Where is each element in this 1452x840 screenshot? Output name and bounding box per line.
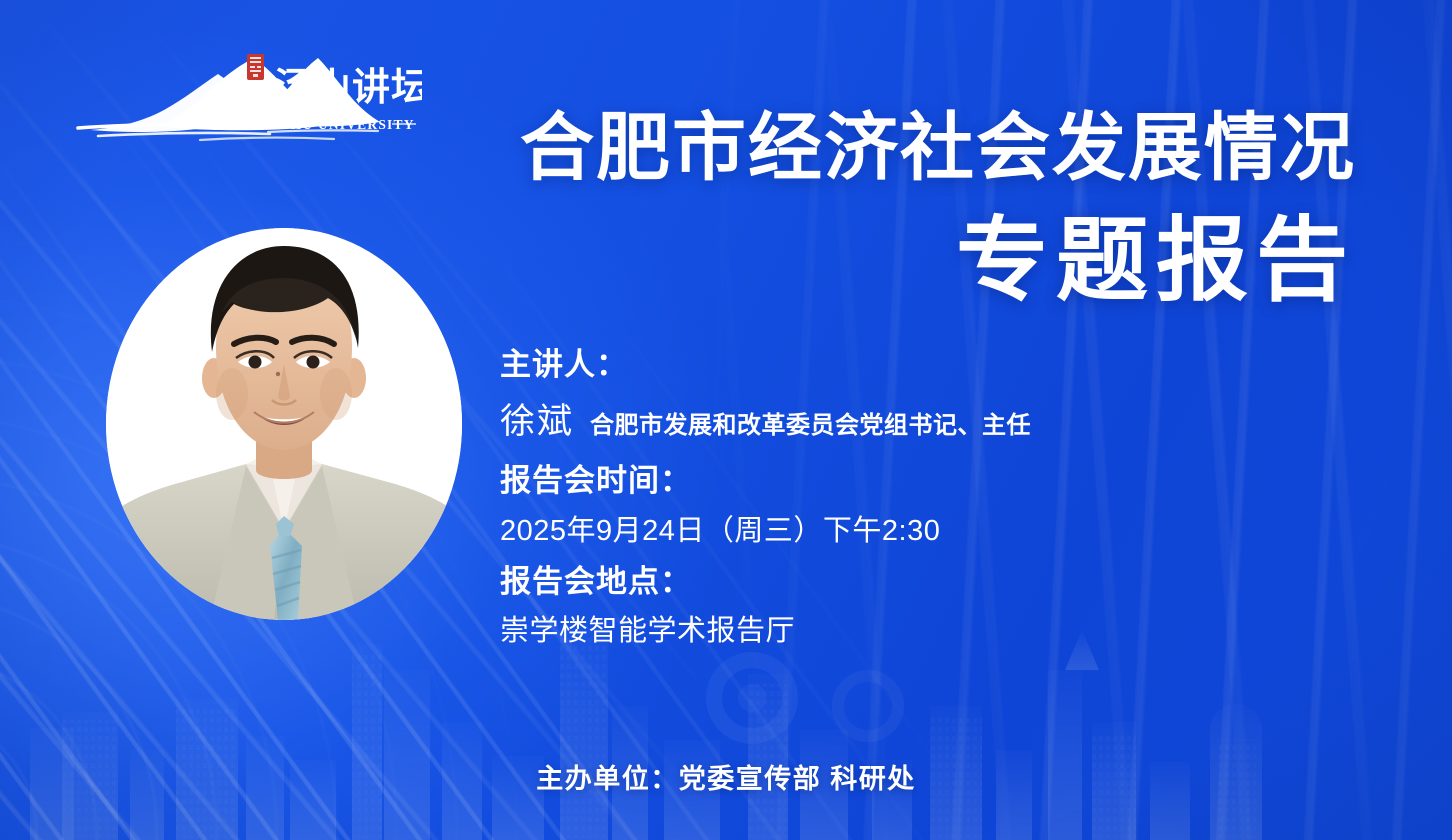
speaker-name: 徐斌 [500,393,574,444]
logo-subtitle: CHAOHU UNIVERSITY [245,117,414,132]
speaker-label: 主讲人： [500,346,1260,385]
headline-line-2: 专题报告 [520,215,1356,309]
portrait-illustration [106,228,462,620]
speaker-row: 徐斌 合肥市发展和改革委员会党组书记、主任 [500,393,1260,444]
poster-canvas: 汤山讲坛 CHAOHU UNIVERSITY 合肥市经济社会发展情况 专题报告 [0,0,1452,840]
portrait-disc [106,228,462,620]
time-value: 2025年9月24日（周三）下午2:30 [500,507,1260,549]
chaohu-university-logo: 汤山讲坛 CHAOHU UNIVERSITY [72,52,422,144]
poster-headline: 合肥市经济社会发展情况 专题报告 [520,110,1356,309]
place-label: 报告会地点： [500,563,1260,602]
logo-artwork: 汤山讲坛 CHAOHU UNIVERSITY [72,52,422,144]
speaker-title: 合肥市发展和改革委员会党组书记、主任 [590,405,1031,440]
logo-title: 汤山讲坛 [274,65,422,109]
speaker-portrait [106,228,462,620]
red-seal-icon [247,54,264,80]
spacer [500,444,1260,462]
headline-line-1: 合肥市经济社会发展情况 [520,110,1356,185]
event-details: 主讲人： 徐斌 合肥市发展和改革委员会党组书记、主任 报告会时间： 2025年9… [500,346,1260,649]
poster-footer: 主办单位：党委宣传部 科研处 [0,757,1452,796]
spacer [500,549,1260,563]
organizer-text: 主办单位：党委宣传部 科研处 [0,757,1452,796]
time-label: 报告会时间： [500,462,1260,501]
place-value: 崇学楼智能学术报告厅 [500,607,1260,649]
